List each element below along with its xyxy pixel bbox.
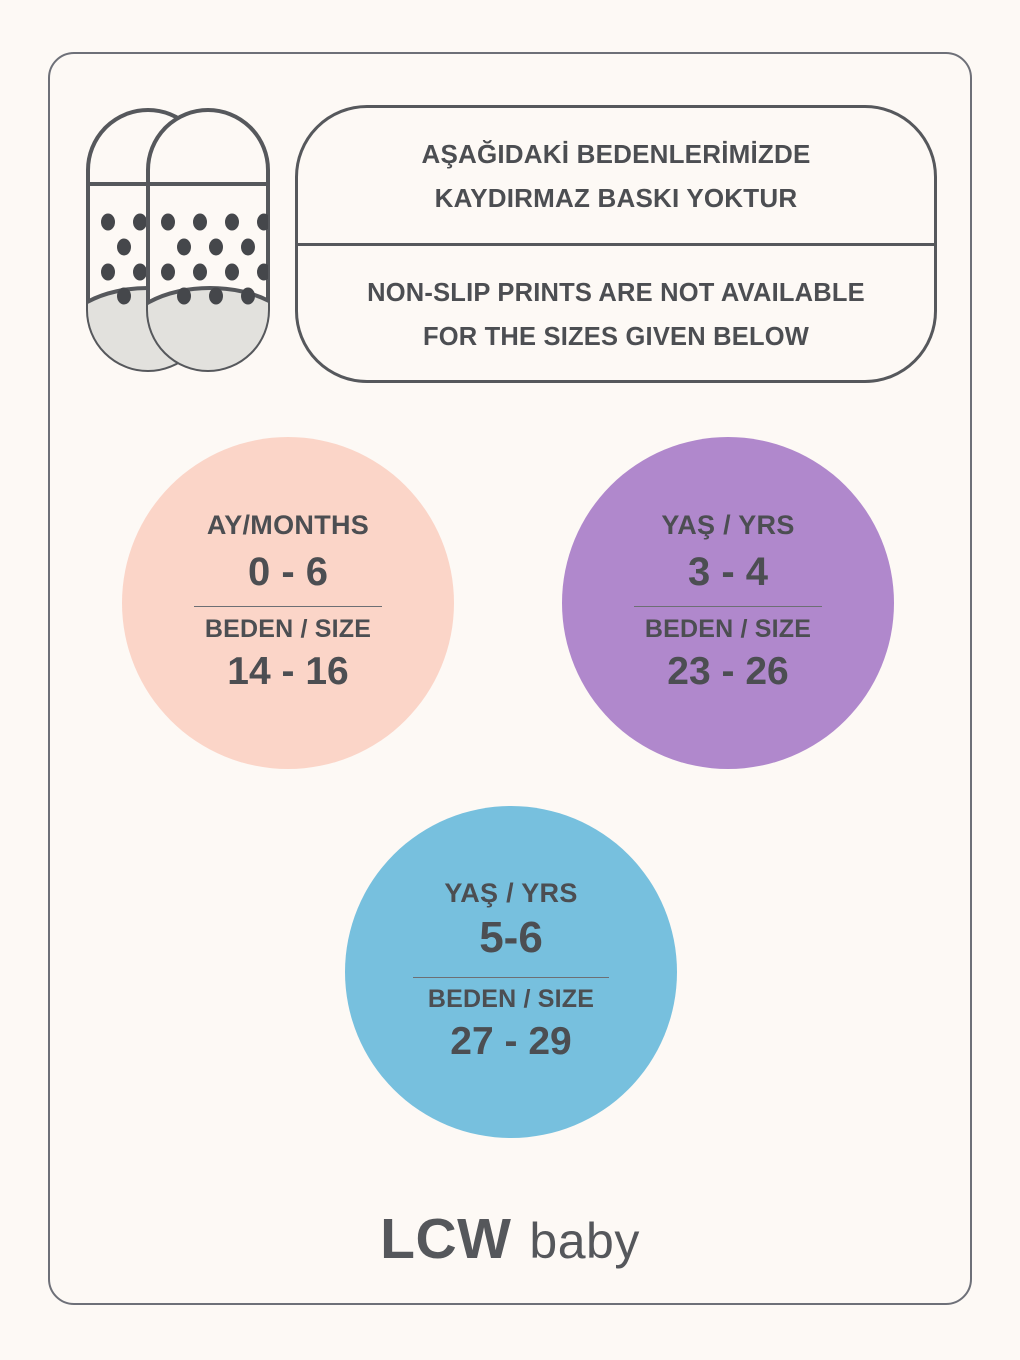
size-circle-months-0-6: AY/MONTHS 0 - 6 BEDEN / SIZE 14 - 16 [122,437,454,769]
non-slip-notice-box: AŞAĞIDAKİ BEDENLERİMİZDE KAYDIRMAZ BASKI… [295,105,937,383]
notice-turkish-line2: KAYDIRMAZ BASKI YOKTUR [435,176,798,220]
notice-english: NON-SLIP PRINTS ARE NOT AVAILABLE FOR TH… [298,246,934,383]
size-circle-size-label: BEDEN / SIZE [205,616,371,644]
size-circle-yrs-5-6: YAŞ / YRS 5-6 BEDEN / SIZE 27 - 29 [345,806,677,1138]
size-circle-age-label: YAŞ / YRS [661,511,794,541]
brand-logo-primary: LCW [380,1207,511,1271]
size-circle-age-label: AY/MONTHS [207,511,369,541]
size-circle-size-value: 14 - 16 [227,650,348,695]
size-circle-age-value: 5-6 [479,913,543,964]
notice-english-line1: NON-SLIP PRINTS ARE NOT AVAILABLE [367,271,865,315]
brand-logo: LCWbaby [0,1206,1020,1272]
size-circle-yrs-3-4: YAŞ / YRS 3 - 4 BEDEN / SIZE 23 - 26 [562,437,894,769]
size-circle-divider [634,606,822,607]
size-chart-page: AŞAĞIDAKİ BEDENLERİMİZDE KAYDIRMAZ BASKI… [0,0,1020,1360]
size-circle-size-label: BEDEN / SIZE [645,616,811,644]
notice-turkish-line1: AŞAĞIDAKİ BEDENLERİMİZDE [421,132,810,176]
size-circle-size-label: BEDEN / SIZE [428,986,594,1014]
size-circle-age-label: YAŞ / YRS [444,879,577,909]
brand-logo-secondary: baby [529,1213,639,1269]
socks-with-dots-icon [82,104,290,376]
notice-turkish: AŞAĞIDAKİ BEDENLERİMİZDE KAYDIRMAZ BASKI… [298,108,934,246]
size-circle-age-value: 3 - 4 [688,549,768,595]
size-circle-size-value: 23 - 26 [667,650,788,695]
size-circle-divider [413,977,609,978]
size-circle-age-value: 0 - 6 [248,549,328,595]
size-circle-size-value: 27 - 29 [450,1020,571,1065]
notice-english-line2: FOR THE SIZES GIVEN BELOW [423,315,809,359]
size-circle-divider [194,606,382,607]
